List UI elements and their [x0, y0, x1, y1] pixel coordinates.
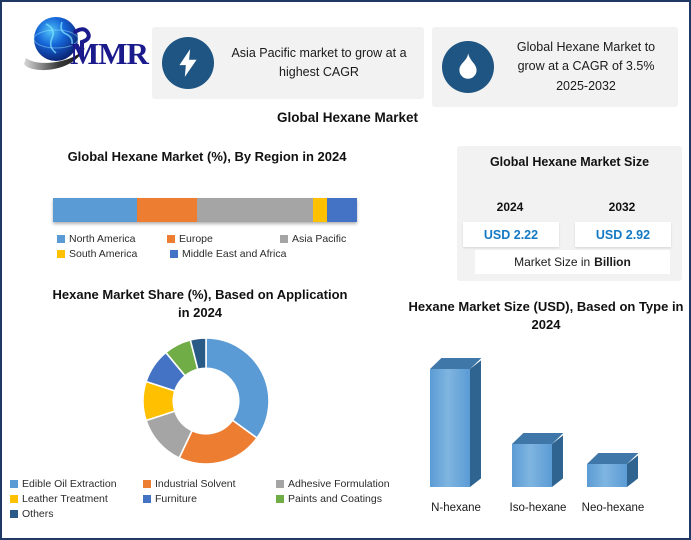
lightning-bolt-icon — [162, 37, 214, 89]
legend-item: South America — [57, 248, 170, 260]
region-chart-title: Global Hexane Market (%), By Region in 2… — [42, 148, 372, 166]
region-segment — [137, 198, 198, 222]
type-bar — [512, 444, 563, 487]
market-size-footer-unit: Billion — [594, 255, 631, 269]
bar-side — [552, 435, 563, 487]
region-segment — [327, 198, 357, 222]
legend-item: North America — [57, 233, 167, 245]
legend-swatch-icon — [143, 480, 151, 488]
legend-label: Asia Pacific — [292, 233, 346, 245]
page-title: Global Hexane Market — [2, 110, 691, 125]
market-size-footer: Market Size in Billion — [475, 250, 670, 274]
legend-item: Furniture — [143, 493, 276, 505]
type-bar — [430, 369, 481, 487]
market-size-title: Global Hexane Market Size — [463, 154, 676, 171]
legend-swatch-icon — [10, 480, 18, 488]
legend-swatch-icon — [170, 250, 178, 258]
region-segment — [197, 198, 313, 222]
application-legend: Edible Oil ExtractionIndustrial SolventA… — [10, 478, 410, 523]
bar-front — [430, 369, 470, 487]
legend-swatch-icon — [276, 480, 284, 488]
market-size-footer-prefix: Market Size in — [514, 255, 590, 269]
type-bar — [587, 464, 638, 487]
legend-item: Industrial Solvent — [143, 478, 276, 490]
legend-label: South America — [69, 248, 137, 260]
legend-item: Leather Treatment — [10, 493, 143, 505]
highlight-badge-asia-pacific: Asia Pacific market to grow at a highest… — [152, 27, 424, 99]
legend-label: Others — [22, 508, 54, 520]
highlight-badge-cagr: Global Hexane Market to grow at a CAGR o… — [432, 27, 678, 107]
region-segment — [53, 198, 137, 222]
legend-item: Adhesive Formulation — [276, 478, 410, 490]
application-chart-title: Hexane Market Share (%), Based on Applic… — [50, 286, 350, 321]
application-donut-chart — [142, 337, 270, 465]
flame-icon — [442, 41, 494, 93]
market-size-year-2024: 2024 — [465, 200, 555, 214]
legend-label: Europe — [179, 233, 213, 245]
legend-swatch-icon — [280, 235, 288, 243]
highlight-badge-text: Asia Pacific market to grow at a highest… — [214, 44, 424, 83]
legend-item: Edible Oil Extraction — [10, 478, 143, 490]
brand-logo: MMR — [12, 12, 152, 76]
legend-item: Europe — [167, 233, 280, 245]
legend-swatch-icon — [57, 235, 65, 243]
legend-item: Others — [10, 508, 143, 520]
type-bar-label: N-hexane — [410, 502, 502, 514]
region-stacked-bar — [53, 198, 357, 222]
type-bar-chart: N-hexaneIso-hexaneNeo-hexane — [402, 342, 687, 532]
legend-swatch-icon — [276, 495, 284, 503]
infographic-canvas: MMR Asia Pacific market to grow at a hig… — [0, 0, 691, 540]
legend-label: Leather Treatment — [22, 493, 108, 505]
legend-label: North America — [69, 233, 136, 245]
legend-swatch-icon — [167, 235, 175, 243]
legend-label: Adhesive Formulation — [288, 478, 390, 490]
legend-label: Industrial Solvent — [155, 478, 236, 490]
bar-front — [512, 444, 552, 487]
region-legend: North AmericaEuropeAsia PacificSouth Ame… — [57, 233, 397, 263]
legend-swatch-icon — [10, 510, 18, 518]
bar-side — [470, 360, 481, 487]
bar-front — [587, 464, 627, 487]
market-size-value-2024: USD 2.22 — [463, 222, 559, 247]
legend-item: Middle East and Africa — [170, 248, 330, 260]
market-size-value-2032: USD 2.92 — [575, 222, 671, 247]
legend-label: Middle East and Africa — [182, 248, 286, 260]
market-size-panel: Global Hexane Market Size 2024 2032 USD … — [457, 146, 682, 281]
legend-item: Paints and Coatings — [276, 493, 410, 505]
market-size-year-2032: 2032 — [577, 200, 667, 214]
brand-name: MMR — [70, 36, 148, 72]
type-bar-label: Neo-hexane — [567, 502, 659, 514]
legend-swatch-icon — [57, 250, 65, 258]
legend-label: Furniture — [155, 493, 197, 505]
region-segment — [313, 198, 327, 222]
legend-swatch-icon — [143, 495, 151, 503]
legend-label: Paints and Coatings — [288, 493, 382, 505]
legend-item: Asia Pacific — [280, 233, 390, 245]
highlight-badge-text: Global Hexane Market to grow at a CAGR o… — [494, 38, 678, 96]
legend-label: Edible Oil Extraction — [22, 478, 117, 490]
legend-swatch-icon — [10, 495, 18, 503]
type-chart-title: Hexane Market Size (USD), Based on Type … — [406, 298, 686, 333]
